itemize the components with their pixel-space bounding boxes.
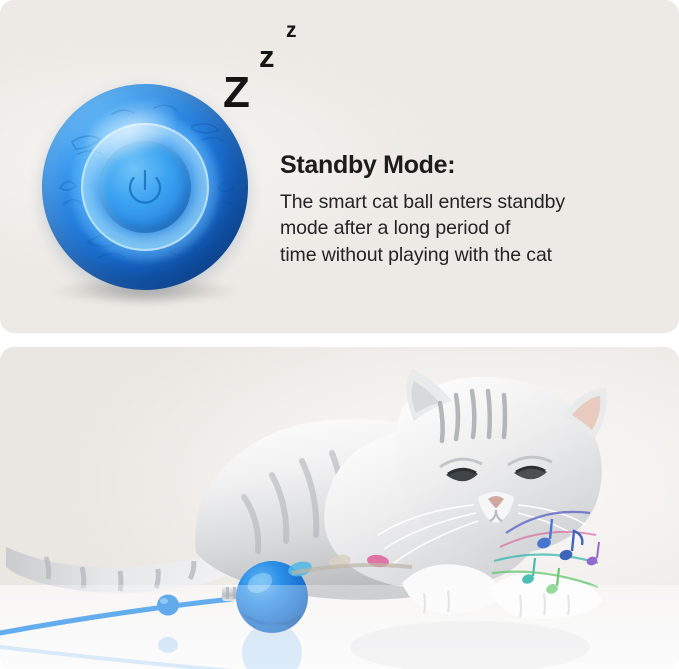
power-icon: [120, 162, 170, 212]
sleep-zzz-group: Z z z: [220, 14, 330, 124]
sleep-z-small: z: [286, 20, 297, 41]
ball-outer-shell: [42, 84, 248, 290]
standby-text-block: Standby Mode: The smart cat ball enters …: [280, 152, 670, 268]
standby-heading: Standby Mode:: [280, 152, 670, 180]
panel-motion-activated: Motion-Activated: Tapping or touching it…: [0, 347, 679, 669]
standby-body-line-1: The smart cat ball enters standby: [280, 189, 670, 216]
standby-body: The smart cat ball enters standby mode a…: [280, 189, 670, 269]
panel-standby-mode: Z z z: [0, 0, 679, 333]
sleep-z-medium: z: [259, 41, 275, 72]
cat-playing-photo: [0, 347, 679, 669]
standby-body-line-3: time without playing with the cat: [280, 242, 670, 269]
sleep-z-large: Z: [223, 71, 250, 115]
product-infographic: Z z z: [0, 0, 679, 669]
standby-body-line-2: mode after a long period of: [280, 215, 670, 242]
